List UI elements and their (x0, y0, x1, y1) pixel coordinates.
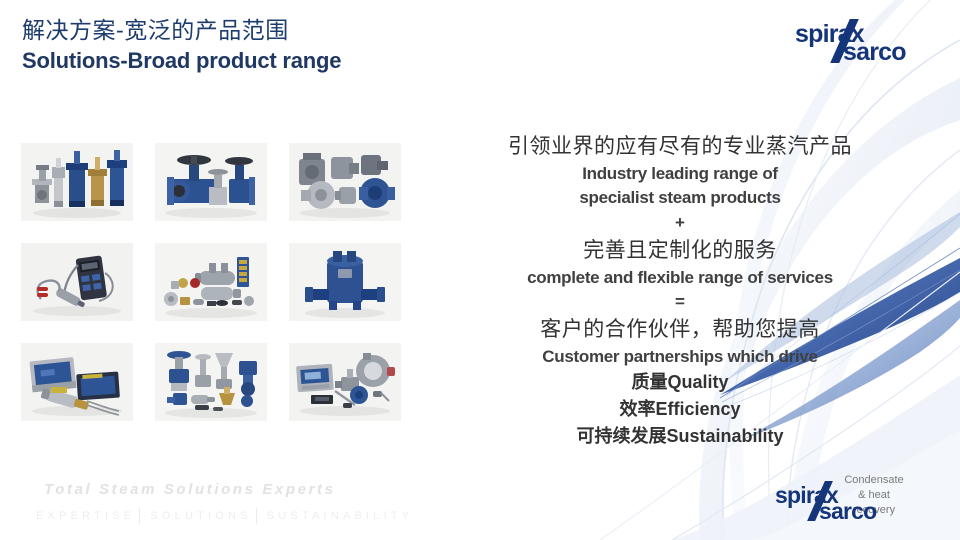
condensate-recovery-pump-icon (289, 243, 401, 321)
spirax-sarco-logo-bottom: spirax sarco (775, 482, 935, 530)
safety-relief-valves-icon (21, 143, 133, 221)
footer-divider-2 (256, 508, 257, 524)
logo-word-sarco: sarco (843, 38, 906, 67)
copy-pillar-efficiency: 效率Efficiency (470, 396, 890, 423)
product-photo-safety-relief-valves (21, 143, 133, 221)
value-proposition-copy: 引领业界的应有尽有的专业蒸汽产品 Industry leading range … (470, 132, 890, 450)
copy-line-cn-2: 完善且定制化的服务 (470, 236, 890, 266)
copy-pillar-sustainability: 可持续发展Sustainability (470, 423, 890, 450)
page-title: 解决方案-宽泛的产品范围 Solutions-Broad product ran… (22, 18, 341, 74)
heat-exchanger-packages-icon (155, 243, 267, 321)
product-photo-valve-actuator-range (155, 343, 267, 421)
product-photo-condensate-recovery-pump (289, 243, 401, 321)
footer-pillar-expertise: EXPERTISE (36, 510, 135, 522)
portable-test-meter-icon (21, 243, 133, 321)
copy-operator-equals: = (470, 290, 890, 315)
copy-line-cn-1: 引领业界的应有尽有的专业蒸汽产品 (470, 132, 890, 162)
control-instrumentation-icon (21, 343, 133, 421)
footer-tagline: Total Steam Solutions Experts (44, 481, 336, 498)
copy-operator-plus: + (470, 211, 890, 236)
product-image-grid (21, 143, 415, 421)
footer-pillars: EXPERTISE SOLUTIONS SUSTAINABILITY (36, 508, 413, 524)
product-photo-portable-test-meter (21, 243, 133, 321)
footer-divider-1 (139, 508, 140, 524)
slide-canvas: 解决方案-宽泛的产品范围 Solutions-Broad product ran… (0, 0, 960, 540)
page-title-english: Solutions-Broad product range (22, 48, 341, 74)
steam-traps-icon (289, 143, 401, 221)
product-photo-steam-traps (289, 143, 401, 221)
footer-pillar-solutions: SOLUTIONS (150, 510, 251, 522)
page-title-chinese: 解决方案-宽泛的产品范围 (22, 18, 341, 45)
flow-metering-system-icon (289, 343, 401, 421)
logo-word-sarco-bottom: sarco (819, 498, 876, 525)
copy-line-en-4: Customer partnerships which drive (470, 345, 890, 370)
copy-pillar-quality: 质量Quality (470, 369, 890, 396)
copy-line-en-1: Industry leading range of (470, 162, 890, 187)
footer-pillar-sustainability: SUSTAINABILITY (267, 510, 414, 522)
valve-actuator-range-icon (155, 343, 267, 421)
product-photo-control-valves (155, 143, 267, 221)
control-valves-icon (155, 143, 267, 221)
copy-line-cn-3: 客户的合作伙伴，帮助您提高 (470, 315, 890, 345)
copy-line-en-3: complete and flexible range of services (470, 266, 890, 291)
product-photo-flow-metering-system (289, 343, 401, 421)
spirax-sarco-logo-top: spirax sarco (795, 20, 945, 66)
copy-line-en-2: specialist steam products (470, 186, 890, 211)
product-photo-heat-exchanger-packages (155, 243, 267, 321)
product-photo-control-instrumentation (21, 343, 133, 421)
